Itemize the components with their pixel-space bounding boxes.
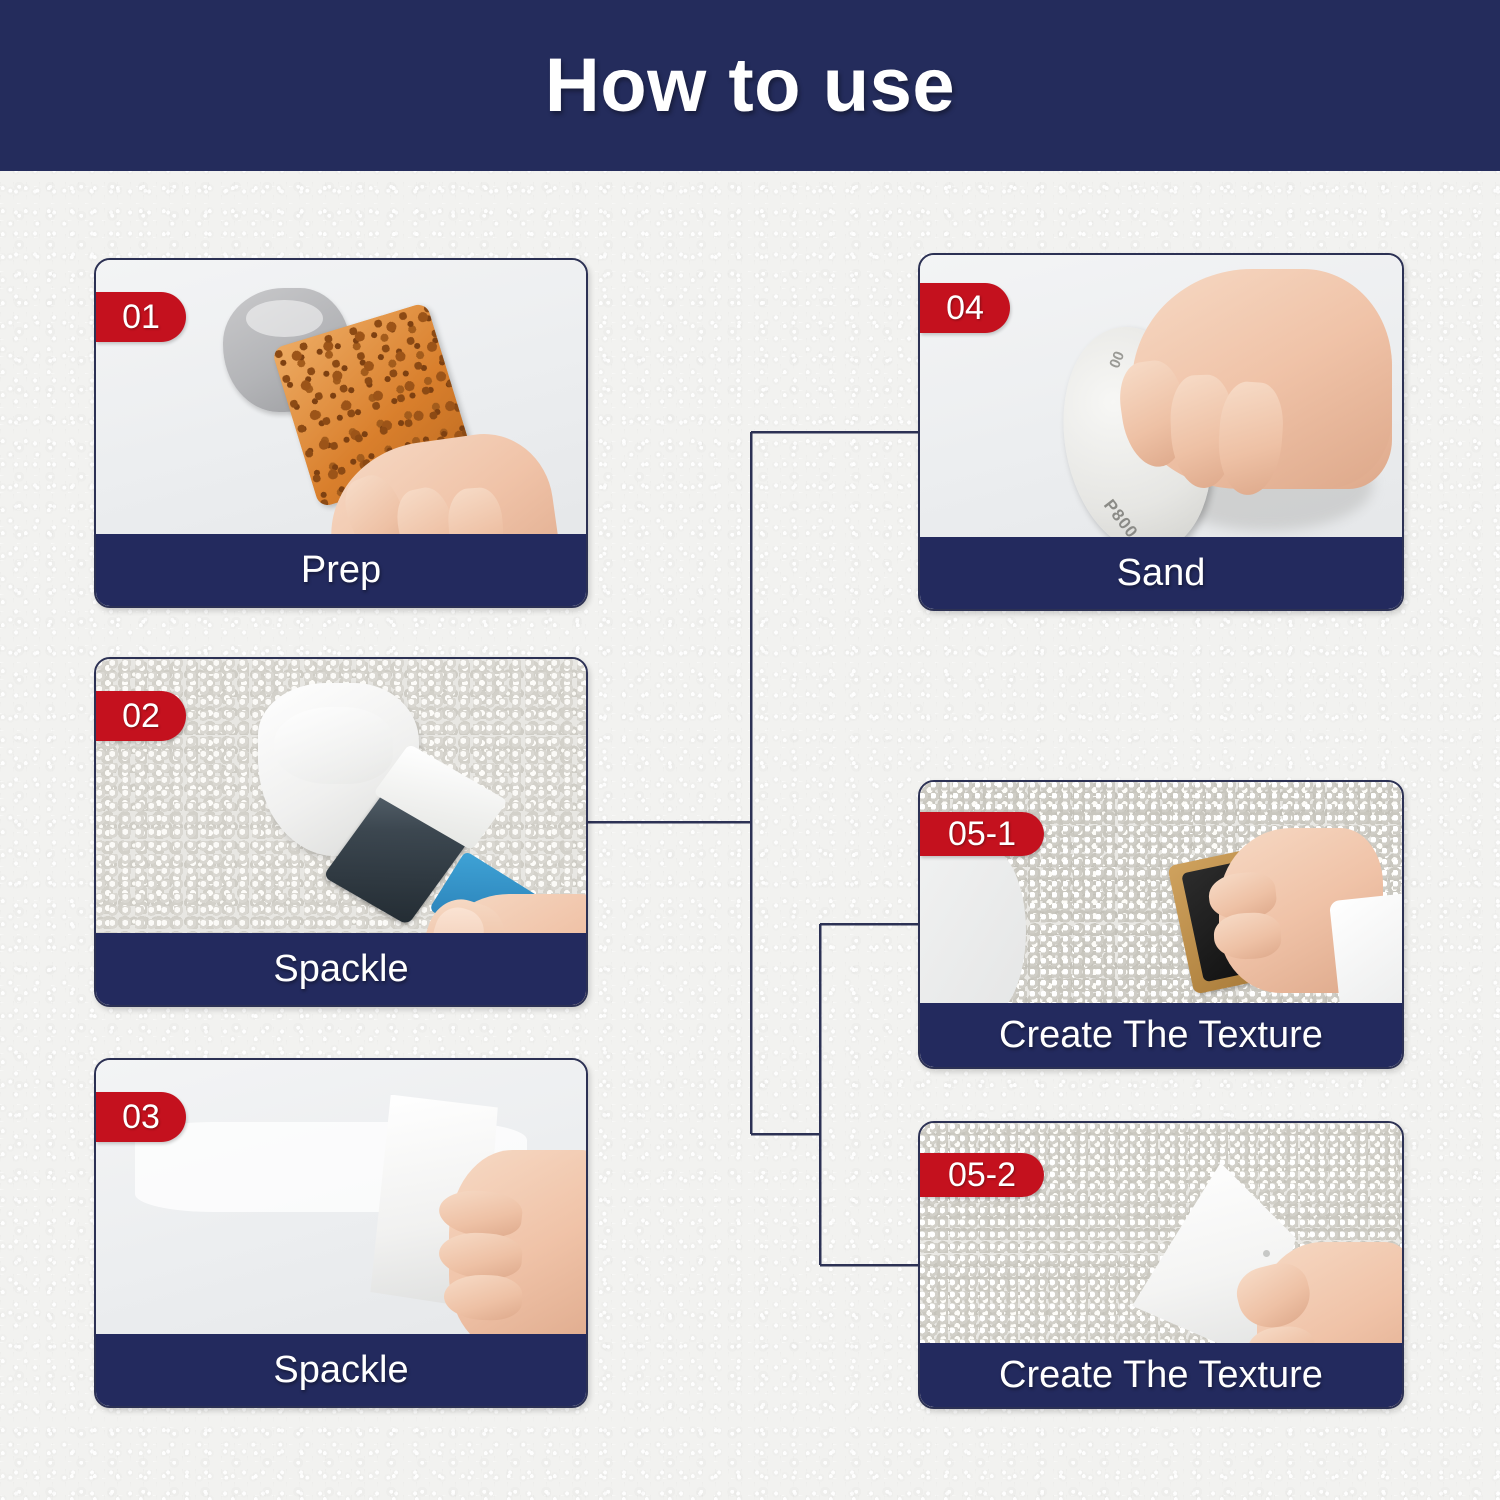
step-card-01[interactable]: 01 Prep (94, 258, 588, 608)
finger-shape (1213, 912, 1282, 960)
step-card-04[interactable]: P800 00 04 Sand (918, 253, 1404, 611)
step-label-01: Prep (96, 534, 586, 606)
step-label-05-2: Create The Texture (920, 1343, 1402, 1407)
step-label-05-1: Create The Texture (920, 1003, 1402, 1067)
step-badge-03: 03 (96, 1092, 186, 1142)
page-title: How to use (545, 42, 955, 129)
step-card-03[interactable]: 03 Spackle (94, 1058, 588, 1408)
step-badge-02: 02 (96, 691, 186, 741)
how-to-use-infographic: How to use (0, 0, 1500, 1500)
scraper-hole-icon (1263, 1250, 1270, 1257)
smooth-wall-region (920, 845, 1026, 1016)
step-badge-05-2: 05-2 (920, 1153, 1044, 1197)
sleeve-shape (1329, 891, 1402, 1020)
step-badge-01: 01 (96, 292, 186, 342)
step-label-03: Spackle (96, 1334, 586, 1406)
header-banner: How to use (0, 0, 1500, 171)
step-badge-04: 04 (920, 283, 1010, 333)
step-label-02: Spackle (96, 933, 586, 1005)
step-card-05-2[interactable]: 05-2 Create The Texture (918, 1121, 1404, 1409)
disc-secondary-label: 00 (1106, 348, 1128, 370)
step-card-05-1[interactable]: 05-1 Create The Texture (918, 780, 1404, 1069)
step-card-02[interactable]: 02 Spackle (94, 657, 588, 1007)
step-label-04: Sand (920, 537, 1402, 609)
step-badge-05-1: 05-1 (920, 812, 1044, 856)
